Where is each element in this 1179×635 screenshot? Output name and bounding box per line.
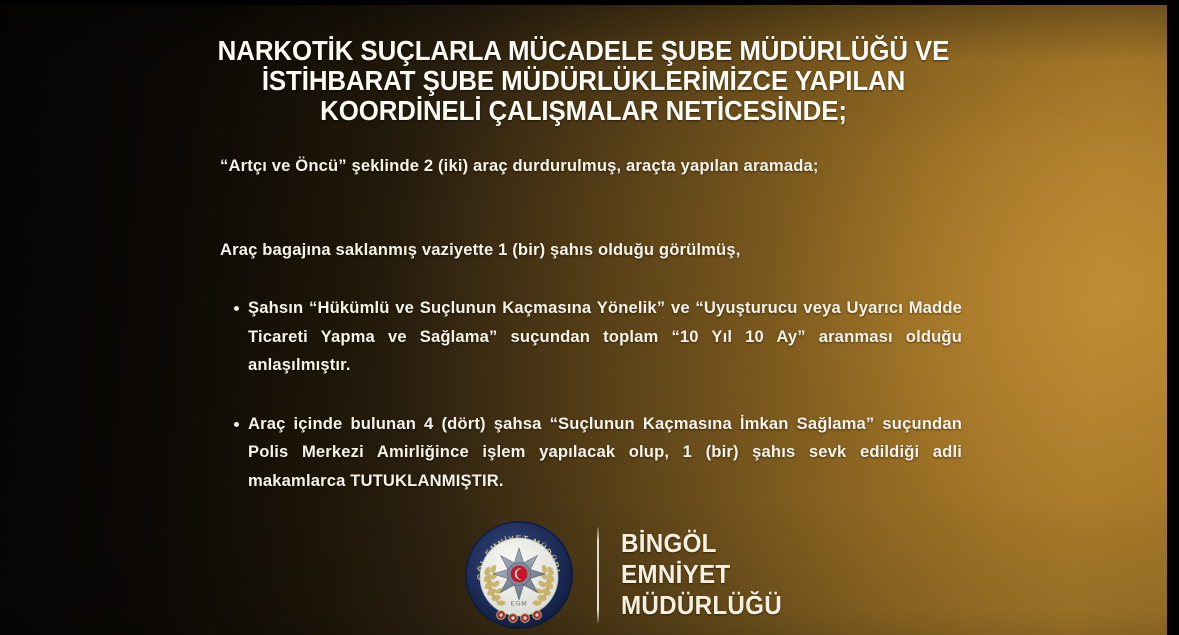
letterbox-bar-top	[0, 0, 1179, 5]
brand-divider	[597, 527, 599, 623]
paragraph-intro: “Artçı ve Öncü” şeklinde 2 (iki) araç du…	[220, 152, 962, 181]
brand-line-1: BİNGÖL	[621, 528, 782, 559]
police-emblem-icon: BİNGÖL EMNİYET MÜDÜRLÜĞÜ	[463, 519, 575, 631]
footer-branding: BİNGÖL EMNİYET MÜDÜRLÜĞÜ	[463, 514, 794, 635]
announcement-slide: NARKOTİK SUÇLARLA MÜCADELE ŞUBE MÜDÜRLÜĞ…	[0, 0, 1179, 635]
bullet-dot-icon	[234, 422, 239, 427]
brand-line-2: EMNİYET	[621, 559, 782, 590]
bullet-dot-icon	[234, 306, 239, 311]
body-text-block: “Artçı ve Öncü” şeklinde 2 (iki) araç du…	[220, 152, 962, 495]
spacer	[220, 264, 962, 294]
title-line-1: NARKOTİK SUÇLARLA MÜCADELE ŞUBE MÜDÜRLÜĞ…	[35, 36, 1132, 66]
brand-line-3: MÜDÜRLÜĞÜ	[621, 590, 782, 621]
spacer	[220, 181, 962, 236]
page-title: NARKOTİK SUÇLARLA MÜCADELE ŞUBE MÜDÜRLÜĞ…	[0, 36, 1167, 126]
paragraph-finding: Araç bagajına saklanmış vaziyette 1 (bir…	[220, 236, 962, 265]
title-line-3: KOORDİNELİ ÇALIŞMALAR NETİCESİNDE;	[35, 96, 1132, 126]
title-line-2: İSTİHBARAT ŞUBE MÜDÜRLÜKLERİMİZCE YAPILA…	[35, 66, 1132, 96]
bullet-text-2: Araç içinde bulunan 4 (dört) şahsa “Suçl…	[248, 410, 962, 496]
list-item: Şahsın “Hükümlü ve Suçlunun Kaçmasına Yö…	[220, 294, 962, 380]
bullet-text-1: Şahsın “Hükümlü ve Suçlunun Kaçmasına Yö…	[248, 294, 962, 380]
letterbox-bar-right	[1167, 0, 1179, 635]
svg-text:EGM: EGM	[511, 600, 528, 607]
slide-content: NARKOTİK SUÇLARLA MÜCADELE ŞUBE MÜDÜRLÜĞ…	[0, 0, 1167, 635]
list-item: Araç içinde bulunan 4 (dört) şahsa “Suçl…	[220, 410, 962, 496]
spacer	[220, 380, 962, 410]
brand-wordmark: BİNGÖL EMNİYET MÜDÜRLÜĞÜ	[621, 528, 794, 621]
